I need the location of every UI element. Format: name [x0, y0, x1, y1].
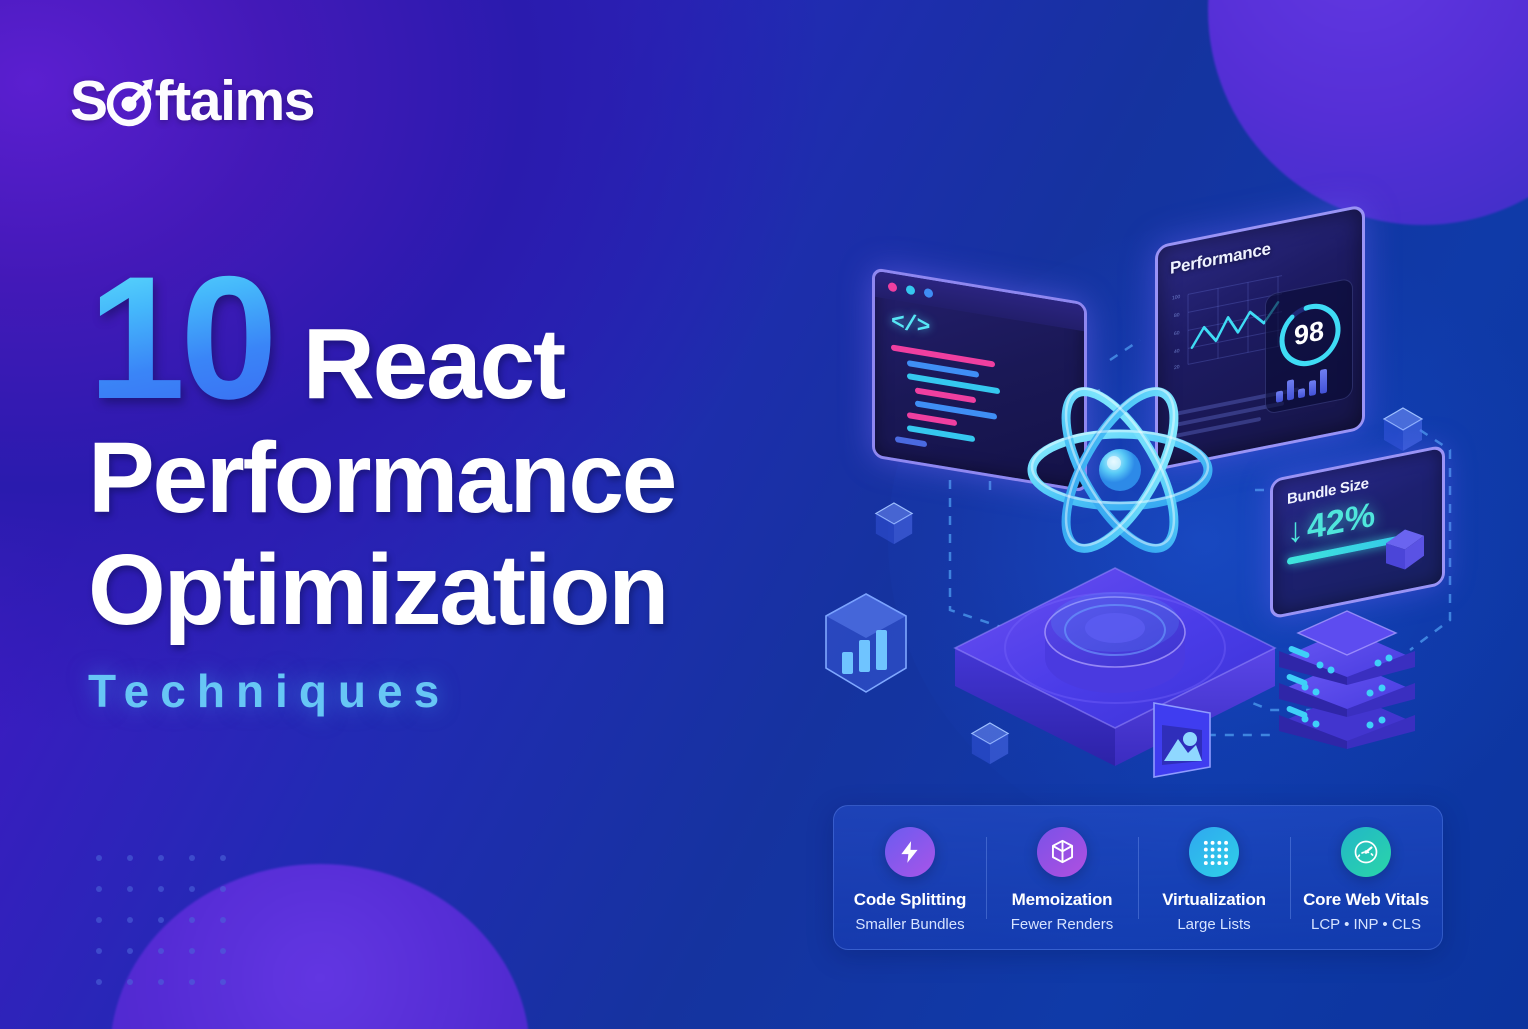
feature-title: Memoization	[1012, 890, 1113, 910]
cube-icon	[968, 720, 1012, 768]
headline-word-react: React	[303, 307, 564, 422]
feature-subtitle: Large Lists	[1177, 916, 1250, 933]
poster-canvas: S ftaims 10 React Performance Optimizati…	[0, 0, 1528, 1029]
cube-icon	[1382, 521, 1428, 578]
headline-line-2: Performance	[88, 422, 788, 534]
brand-name-part2: ftaims	[155, 73, 314, 130]
cube-icon	[1380, 405, 1426, 455]
headline-subtitle: Techniques	[88, 664, 788, 718]
svg-text:100: 100	[1172, 294, 1181, 302]
dot-grid-icon	[1189, 827, 1239, 877]
feature-title: Virtualization	[1162, 890, 1266, 910]
feature-code-splitting[interactable]: Code Splitting Smaller Bundles	[834, 823, 986, 933]
lightning-bolt-icon	[885, 827, 935, 877]
decorative-dot-grid	[96, 855, 251, 1010]
headline-number: 10	[88, 258, 273, 421]
svg-text:60: 60	[1174, 330, 1180, 337]
hero-illustration: </> Performance	[800, 190, 1500, 810]
target-arrow-icon	[106, 77, 156, 127]
brand-logo[interactable]: S ftaims	[70, 73, 314, 130]
feature-subtitle: LCP • INP • CLS	[1311, 916, 1421, 933]
code-brackets-icon: </>	[891, 308, 929, 340]
feature-subtitle: Smaller Bundles	[855, 916, 964, 933]
svg-text:80: 80	[1174, 312, 1180, 319]
feature-virtualization[interactable]: Virtualization Large Lists	[1138, 823, 1290, 933]
react-atom-icon	[1010, 370, 1230, 570]
brand-name-part1: S	[70, 73, 107, 130]
bundle-size-value: 42%	[1307, 495, 1375, 548]
database-stack-icon	[1270, 605, 1425, 750]
cube-icon	[872, 500, 916, 548]
bar-chart-box-icon	[820, 590, 912, 700]
headline-block: 10 React Performance Optimization Techni…	[88, 258, 788, 718]
cube-3d-icon	[1037, 827, 1087, 877]
feature-subtitle: Fewer Renders	[1011, 916, 1114, 933]
svg-text:40: 40	[1174, 348, 1180, 355]
feature-title: Code Splitting	[854, 890, 966, 910]
headline-line-3: Optimization	[88, 534, 788, 646]
feature-title: Core Web Vitals	[1303, 890, 1429, 910]
feature-memoization[interactable]: Memoization Fewer Renders	[986, 823, 1138, 933]
headline-row-1: 10 React	[88, 258, 788, 422]
feature-bar: Code Splitting Smaller Bundles Memoizati…	[833, 805, 1443, 950]
performance-score-gauge: 98	[1265, 277, 1353, 415]
image-photo-icon	[1140, 695, 1226, 787]
speedometer-icon	[1341, 827, 1391, 877]
feature-core-web-vitals[interactable]: Core Web Vitals LCP • INP • CLS	[1290, 823, 1442, 933]
